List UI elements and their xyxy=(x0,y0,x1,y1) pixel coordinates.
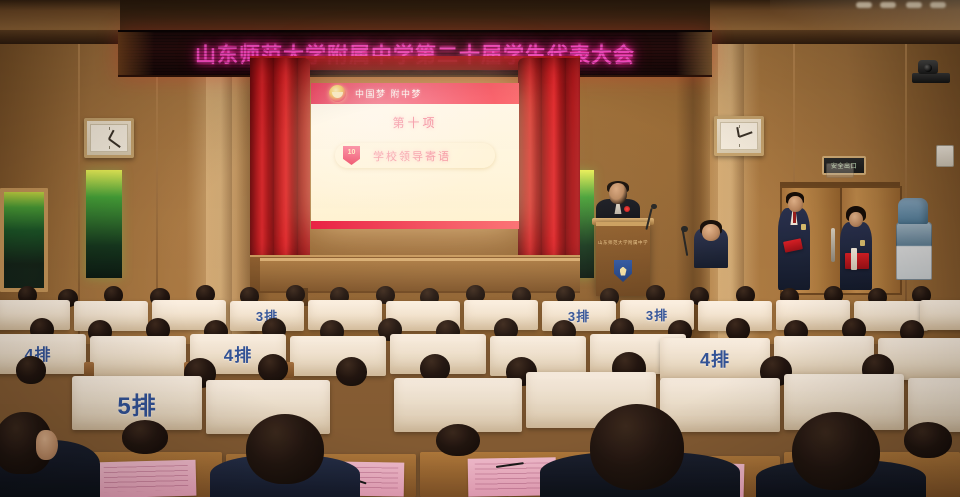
slide-agenda-text: 学校领导寄语 xyxy=(373,148,451,164)
attendee-head xyxy=(436,424,480,456)
attendee-head xyxy=(590,404,684,490)
side-window-far-left xyxy=(0,188,48,292)
microphone-head xyxy=(651,204,657,209)
projection-screen: 中国梦 附中梦 第十项 10 学校领导寄语 xyxy=(311,83,519,229)
clock-tick xyxy=(109,146,110,149)
stage-table xyxy=(260,258,580,291)
wall-clock-left xyxy=(84,118,134,158)
security-camera xyxy=(918,60,938,74)
clock-minute-hand xyxy=(109,138,121,147)
window-glow xyxy=(4,192,44,288)
podium: 山东师范大学附属中学 xyxy=(596,222,650,296)
slide-header-text: 中国梦 附中梦 xyxy=(355,87,422,100)
seat-back[interactable] xyxy=(308,300,382,330)
slide-badge-number: 10 xyxy=(343,146,360,165)
red-certificate-folder xyxy=(845,253,869,269)
china-dream-logo-icon xyxy=(329,85,346,102)
ceiling-spotlight xyxy=(880,2,896,8)
seat-back[interactable] xyxy=(90,336,186,376)
seat-row-label: 5排 xyxy=(72,386,202,421)
seat-back[interactable]: 4排 xyxy=(660,338,770,380)
clock-tick xyxy=(739,144,740,147)
stage-curtain-left xyxy=(250,58,310,263)
side-window-left xyxy=(86,170,122,278)
audience-head xyxy=(258,354,288,382)
wall-switch-plate[interactable] xyxy=(936,145,954,167)
seated-staff-head xyxy=(702,224,720,241)
camera-bracket xyxy=(912,73,950,83)
water-bottle xyxy=(898,198,928,224)
stage-curtain-right xyxy=(518,58,580,263)
clock-minute-hand xyxy=(739,131,753,137)
speaker-flower-badge xyxy=(624,206,630,212)
seat-back[interactable] xyxy=(920,300,960,330)
water-dispenser xyxy=(896,222,932,280)
clock-face xyxy=(90,124,128,152)
document-text-lines xyxy=(475,463,549,491)
banner-edge xyxy=(118,32,154,75)
audience-head xyxy=(336,357,367,386)
podium-plaque-text: 山东师范大学附属中学 xyxy=(596,240,650,246)
attendee-head xyxy=(122,420,168,454)
clock-tick xyxy=(109,127,110,130)
slide-agenda-pill: 10 学校领导寄语 xyxy=(335,143,495,168)
attendee-face xyxy=(36,430,58,460)
auditorium-scene: 安全出口 山东师范大学附属中学第二十届学生代表大会 中国梦 附中梦 第十项 10… xyxy=(0,0,960,497)
document-text-lines xyxy=(104,465,189,492)
audience-head xyxy=(16,356,46,384)
attendee-head xyxy=(904,422,952,458)
table-microphone-head xyxy=(681,226,688,232)
attendee-head xyxy=(792,412,880,490)
attendee-head xyxy=(246,414,324,484)
clock-face xyxy=(720,122,758,150)
meeting-document xyxy=(96,460,197,497)
usher-badge xyxy=(860,240,865,246)
sign-backplate xyxy=(826,163,854,178)
seat-back[interactable] xyxy=(660,378,780,432)
slide-header: 中国梦 附中梦 xyxy=(311,83,519,104)
wall-seam xyxy=(78,44,80,344)
banner-edge xyxy=(676,32,712,75)
wall-seam xyxy=(905,44,907,344)
ceiling-spotlight xyxy=(930,2,946,8)
speaker-head xyxy=(609,183,627,204)
rolled-certificate xyxy=(851,248,857,270)
seat-row-label: 4排 xyxy=(660,346,770,372)
slide-footer-bar xyxy=(311,221,519,229)
ceiling-spotlight xyxy=(856,2,872,8)
camera-lens-icon xyxy=(924,64,932,72)
door-handle[interactable] xyxy=(831,228,835,262)
seat-back[interactable] xyxy=(490,336,586,376)
school-crest-icon xyxy=(614,260,632,282)
usher-badge xyxy=(801,224,806,230)
clock-tick xyxy=(739,125,740,128)
wall-clock-right xyxy=(714,116,764,156)
usher-head xyxy=(849,212,863,227)
ceiling-spotlight xyxy=(906,2,922,8)
slide-title: 第十项 xyxy=(311,114,519,131)
seat-row-label: 3排 xyxy=(542,306,616,325)
usher-head xyxy=(788,196,803,212)
